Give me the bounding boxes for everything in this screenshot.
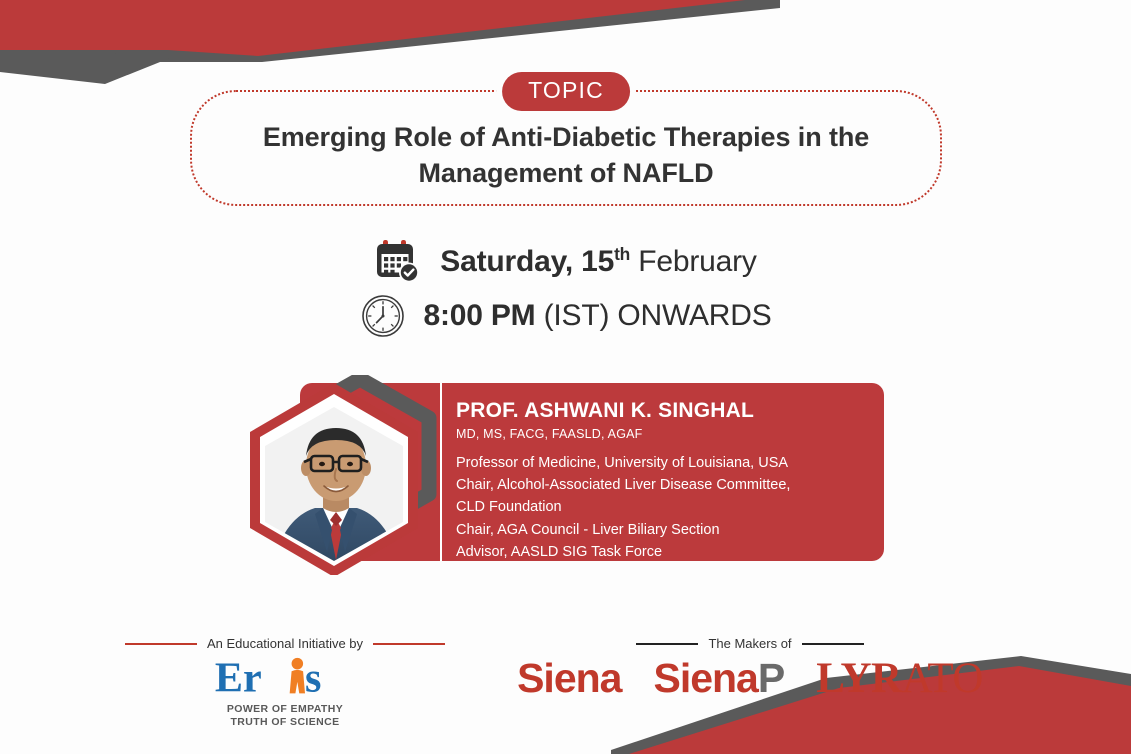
speaker-affiliation-line: CLD Foundation xyxy=(456,496,876,518)
speaker-name: PROF. ASHWANI K. SINGHAL xyxy=(456,398,876,423)
brand-siena-primary: Siena xyxy=(517,655,621,701)
eris-letters-s: s xyxy=(305,655,321,701)
schedule-time-value: 8:00 PM xyxy=(423,299,535,332)
speaker-photo-hexagon xyxy=(238,375,460,575)
speaker-affiliation-line: Chair, AGA Council - Liver Biliary Secti… xyxy=(456,519,876,541)
calendar-check-icon xyxy=(374,237,422,285)
speaker-affiliation-line: Advisor, AASLD SIG Task Force xyxy=(456,541,876,563)
topic-badge: TOPIC xyxy=(502,72,630,111)
eris-logo: Er s POWER OF EMPATHY TRUTH OF SCIENCE xyxy=(125,655,445,729)
schedule-month: February xyxy=(630,245,757,278)
brand-sienap-primary: Siena xyxy=(653,655,757,701)
footer-left-caption-row: An Educational Initiative by xyxy=(125,636,445,651)
rule-right xyxy=(373,643,445,645)
rule-left xyxy=(125,643,197,645)
schedule-date-row: Saturday, 15th February xyxy=(374,237,756,285)
brand-lyrato-primary: LYR xyxy=(816,655,901,702)
footer-brands-block: The Makers of Siena SienaP LYRATO xyxy=(470,636,1030,700)
eris-tagline-line1: POWER OF EMPATHY xyxy=(227,703,343,716)
footer-right-caption-row: The Makers of xyxy=(470,636,1030,651)
schedule-day: 15 xyxy=(581,245,614,278)
schedule-ordinal: th xyxy=(614,244,630,264)
schedule-weekday: Saturday, xyxy=(440,245,581,278)
schedule-time-suffix: (IST) ONWARDS xyxy=(535,299,771,332)
page-title: Emerging Role of Anti-Diabetic Therapies… xyxy=(190,120,942,192)
eris-wordmark-icon: Er s xyxy=(213,655,357,701)
brand-siena: Siena xyxy=(517,658,621,699)
clock-icon xyxy=(361,294,405,338)
eris-human-figure xyxy=(290,658,305,693)
brand-sienap: SienaP xyxy=(653,658,784,699)
corner-gray-shape-top xyxy=(0,0,780,62)
brand-wordmark-list: Siena SienaP LYRATO xyxy=(470,657,1030,700)
speaker-affiliation-line: Professor of Medicine, University of Lou… xyxy=(456,452,876,474)
brand-lyrato-secondary: ATO xyxy=(902,655,983,702)
speaker-details: PROF. ASHWANI K. SINGHAL MD, MS, FACG, F… xyxy=(456,398,876,563)
schedule-time-row: 8:00 PM (IST) ONWARDS xyxy=(359,294,771,338)
corner-gray-shape-left xyxy=(0,44,170,84)
corner-red-shape-top xyxy=(0,0,745,56)
schedule-block: Saturday, 15th February 8:00 PM (IST) ON… xyxy=(0,237,1131,338)
footer-sponsor-block: An Educational Initiative by Er s POWER … xyxy=(125,636,445,729)
footer-left-caption: An Educational Initiative by xyxy=(207,636,363,651)
speaker-degrees: MD, MS, FACG, FAASLD, AGAF xyxy=(456,426,876,443)
eris-tagline-line2: TRUTH OF SCIENCE xyxy=(227,716,343,729)
footer-right-caption: The Makers of xyxy=(708,636,791,651)
brand-lyrato: LYRATO xyxy=(816,657,983,700)
rule-right xyxy=(802,643,864,645)
brand-sienap-secondary: P xyxy=(758,655,784,701)
eris-tagline: POWER OF EMPATHY TRUTH OF SCIENCE xyxy=(227,703,343,729)
speaker-affiliations: Professor of Medicine, University of Lou… xyxy=(456,452,876,563)
schedule-time-text: 8:00 PM (IST) ONWARDS xyxy=(423,299,771,333)
eris-letters-er: Er xyxy=(215,655,262,701)
speaker-affiliation-line: Chair, Alcohol-Associated Liver Disease … xyxy=(456,474,876,496)
rule-left xyxy=(636,643,698,645)
schedule-date-text: Saturday, 15th February xyxy=(440,244,756,279)
topic-panel: TOPIC Emerging Role of Anti-Diabetic The… xyxy=(190,90,942,206)
